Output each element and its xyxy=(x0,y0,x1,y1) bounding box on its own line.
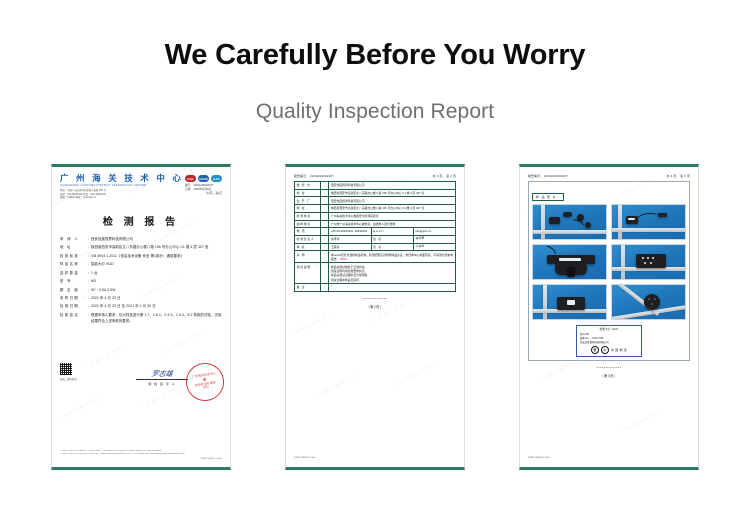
accreditation-logos: CQC CNAS ILAC xyxy=(185,175,222,182)
issuer-name-cn: 广 州 海 关 技 术 中 心 xyxy=(60,174,185,183)
photo-grid xyxy=(532,204,686,320)
doc1-report-meta: 编号： 21DQ21600216T 日期： 2021年4月30日 共4页，第1页 xyxy=(185,184,222,196)
doc1-signature-block: 扫描二维码查询 罗志雄 授 权 签 字 人 广州海关技术中心 ★ 检验检测专用章… xyxy=(60,363,222,381)
quality-inspection-report-page: We Carefully Before You Worry Quality In… xyxy=(0,0,750,524)
issuer-address: 地址：中国广州市天河区黄埔大道西 196 号 电话：020-38290401 传… xyxy=(60,189,185,199)
table-row: 地 址 : 陕西省西安市高新区丈八东路办公楼八路 156 号办公中心 C1 楼 … xyxy=(295,205,456,213)
table-row: 委 托 方 : 西安炫度视界科技有限公司 xyxy=(295,182,456,190)
footer-code: ZRJBT-QR0001-1-CN-b xyxy=(60,458,222,460)
report-number: 报告编号： 21DQ21600216T xyxy=(528,174,568,178)
cqc-logo-icon: CQC xyxy=(185,175,196,182)
table-row: 备 注 : / xyxy=(295,284,456,292)
signature-line xyxy=(136,379,188,380)
field-row: 收样日期 : 2021 年 4 月 29 日 xyxy=(60,296,222,302)
end-of-section-stars: ************** xyxy=(294,297,456,301)
page-end-mark: （第3页） xyxy=(528,373,690,378)
authorized-signature: 罗志雄 授 权 签 字 人 xyxy=(136,371,188,386)
doc1-letterhead: 广 州 海 关 技 术 中 心 GUANGZHOU CUSTOMS DISTRI… xyxy=(60,174,222,200)
sample-photo-section: 样 品 照 片： xyxy=(528,181,690,361)
report-number: 报告编号： 21DQ21600216T xyxy=(294,174,334,178)
sample-photo-4[interactable] xyxy=(611,244,686,280)
doc3-header: 报告编号： 21DQ21600216T 共 4 页， 第 3 页 xyxy=(528,174,690,178)
page-subtitle: Quality Inspection Report xyxy=(0,100,750,124)
certificate-card-report-cover[interactable]: 广州海关技术中心 广州海关技术中心 广州海关技术中心 广州海关技术中心 广州海关… xyxy=(51,164,231,470)
issuer-name-en: GUANGZHOU CUSTOMS DISTRICT TECHNOLOGY CE… xyxy=(60,184,185,187)
table-row: 检测负责人 : 余泽琴 签 名 余泽琴 xyxy=(295,235,456,243)
footer-code: ZRJBT-QR0003-1-CN-b xyxy=(528,457,549,459)
field-row: 检测结论 : 根据申请人要求，仅对样品进行第 1.7、2.8.1、2.9.3、2… xyxy=(60,313,222,325)
table-row: 检测地点 : 广州海关技术中心电器安全检测实验室 xyxy=(295,212,456,220)
signature-label: 授 权 签 字 人 xyxy=(136,382,188,386)
sample-photo-2[interactable] xyxy=(611,204,686,240)
handwritten-signature: 余泽琴 xyxy=(413,235,455,243)
ilac-logo-icon: ILAC xyxy=(211,175,222,182)
signature-handwriting: 罗志雄 xyxy=(135,371,188,378)
page-title: We Carefully Before You Worry xyxy=(0,40,750,72)
table-row: 生 产 厂 : 西安炫度视界科技有限公司 xyxy=(295,197,456,205)
sample-photo-6[interactable] xyxy=(611,284,686,320)
doc1-title: 检 测 报 告 xyxy=(60,213,222,228)
table-row: 测试说明 : 样品在测试前处于正常状态。 测试试验均按标准要求执行。 样品在测试… xyxy=(295,263,456,284)
field-row: 申 请 人 : 西安炫度视界科技有限公司 xyxy=(60,237,222,243)
sample-photo-3[interactable] xyxy=(532,244,607,280)
highlight-marker xyxy=(340,258,347,261)
official-red-seal-icon: 广州海关技术中心 ★ 检验检测专用章 (06) xyxy=(183,360,226,403)
footer-code: ZRJBT-QR0002-1-CN-b xyxy=(294,457,315,459)
field-row: 检测标准 : GB 4943.1-2011《信息技术设备 安全 第1部分：通用要… xyxy=(60,254,222,260)
handwritten-signature: 王其标 xyxy=(413,243,455,251)
field-row: 检测日期 : 2021 年 4 月 29 日 至 2021 年 4 月 30 日 xyxy=(60,304,222,310)
label-title: 智能大灯 HUD xyxy=(580,328,638,332)
doc2-header: 报告编号： 21DQ21600216T 共 4 页， 第 2 页 xyxy=(294,174,456,178)
section-title: 样 品 照 片： xyxy=(532,193,564,201)
made-in-text: 中 国 制 造 xyxy=(611,348,627,352)
certificate-card-sample-photos[interactable]: 广州海关技术中心 广州海关技术中心 广州海关技术中心 广州海关技术中心 报告编号… xyxy=(519,164,699,470)
table-row: 审 核 : 王其标 签 名 王其标 xyxy=(295,243,456,251)
sample-photo-5[interactable] xyxy=(532,284,607,320)
cnas-logo-icon: CNAS xyxy=(198,175,209,182)
doc1-footer: 1. 本报告未经本中心书面批准，不得部分复制。 The results in t… xyxy=(60,450,222,460)
end-of-section-stars: ************** xyxy=(528,366,690,370)
field-row: 地 址 : 陕西省西安市高新区丈八东路办公楼八路 156 号办公中心 C1 楼 … xyxy=(60,245,222,251)
doc2-info-table: 委 托 方 : 西安炫度视界科技有限公司 地 址 : 陕西省西安市高新区丈八东路… xyxy=(294,181,456,292)
field-row: 送样数量 : 1 台 xyxy=(60,271,222,277)
recycle-mark-icon: ♻ xyxy=(601,346,609,354)
field-row: 型 号 : M3 xyxy=(60,279,222,285)
table-row: 抽样地点 : 广州市广州海关技术中心收样室，由送样人自行送样 xyxy=(295,220,456,228)
field-row: 样品名称 : 智能大灯 HUD xyxy=(60,262,222,268)
page-indicator: 共 4 页， 第 3 页 xyxy=(667,174,690,178)
field-row: 额 定 值 : 5V···0.5A 2.5W xyxy=(60,288,222,294)
product-rating-label: 智能大灯 HUD 型号 M3 参数 5V ··· 0.5A 2.5W 西安炫度视… xyxy=(576,325,642,357)
table-row: 电 话 : +86-20-38290401, 38290403 Email ss… xyxy=(295,228,456,236)
qr-code-icon[interactable] xyxy=(60,363,72,375)
page-indicator: 共 4 页， 第 2 页 xyxy=(433,174,456,178)
doc1-field-list: 申 请 人 : 西安炫度视界科技有限公司 地 址 : 陕西省西安市高新区丈八东路… xyxy=(60,237,222,325)
page-end-mark: （第2页） xyxy=(294,304,456,309)
sample-photo-1[interactable] xyxy=(532,204,607,240)
certificate-gallery: 广州海关技术中心 广州海关技术中心 广州海关技术中心 广州海关技术中心 广州海关… xyxy=(0,164,750,470)
table-row: 地 址 : 陕西省西安市高新区丈八东路办公楼八路 156 号办公中心 C1 楼 … xyxy=(295,189,456,197)
certificate-card-report-details[interactable]: 广州海关技术中心 广州海关技术中心 广州海关技术中心 广州海关技术中心 广州海关… xyxy=(285,164,465,470)
trash-bin-mark-icon: 🗑 xyxy=(591,346,599,354)
table-row: 声 明 : 本report仅针对送检样品有效，检测结果仅对所检样品负责。未经本中… xyxy=(295,251,456,263)
